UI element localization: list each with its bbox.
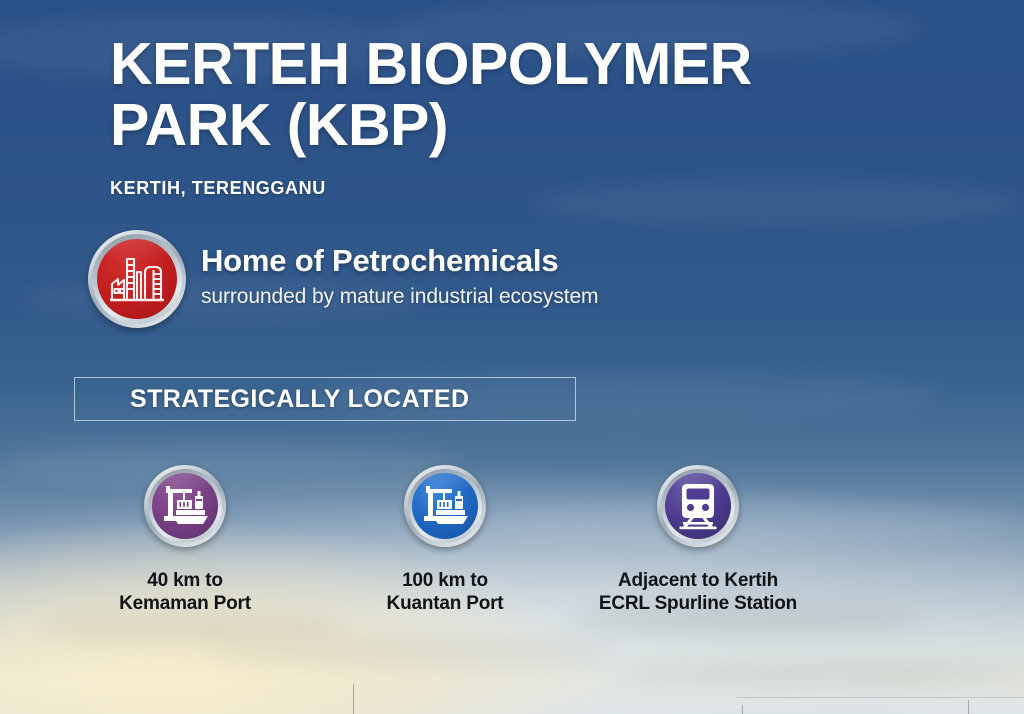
port-crane-ship-icon (160, 483, 210, 529)
factory-refinery-badge (88, 230, 186, 328)
tagline-heading: Home of Petrochemicals (201, 243, 558, 279)
page-title: KERTEH BIOPOLYMER PARK (KBP) (110, 34, 900, 157)
location-caption: 40 km to Kemaman Port (70, 569, 300, 615)
location-caption-line-1: Adjacent to Kertih (618, 570, 778, 591)
factory-refinery-icon (107, 252, 167, 306)
port-crane-ship-badge (404, 465, 486, 547)
location-caption: 100 km to Kuantan Port (330, 569, 560, 615)
location-caption-line-2: Kuantan Port (330, 592, 560, 615)
location-caption: Adjacent to Kertih ECRL Spurline Station (583, 569, 813, 615)
title-line-1: KERTEH BIOPOLYMER (110, 34, 900, 95)
badge-disc (97, 239, 177, 319)
location-caption-line-1: 40 km to (147, 570, 223, 591)
strategically-located-label: STRATEGICALLY LOCATED (130, 385, 469, 414)
location-caption-line-2: Kemaman Port (70, 592, 300, 615)
location-item-kemaman-port: 40 km to Kemaman Port (70, 465, 300, 615)
location-caption-line-1: 100 km to (402, 570, 488, 591)
badge-disc (665, 473, 731, 539)
location-item-ecrl-spurline: Adjacent to Kertih ECRL Spurline Station (583, 465, 813, 615)
strategically-located-box: STRATEGICALLY LOCATED (74, 377, 576, 421)
tagline-description: surrounded by mature industrial ecosyste… (201, 285, 598, 309)
port-crane-ship-icon (420, 483, 470, 529)
page-subtitle: KERTIH, TERENGGANU (110, 178, 326, 199)
train-badge (657, 465, 739, 547)
train-icon (676, 482, 720, 530)
location-item-kuantan-port: 100 km to Kuantan Port (330, 465, 560, 615)
location-caption-line-2: ECRL Spurline Station (583, 592, 813, 615)
badge-disc (412, 473, 478, 539)
title-line-2: PARK (KBP) (110, 95, 900, 156)
badge-disc (152, 473, 218, 539)
port-crane-ship-badge (144, 465, 226, 547)
